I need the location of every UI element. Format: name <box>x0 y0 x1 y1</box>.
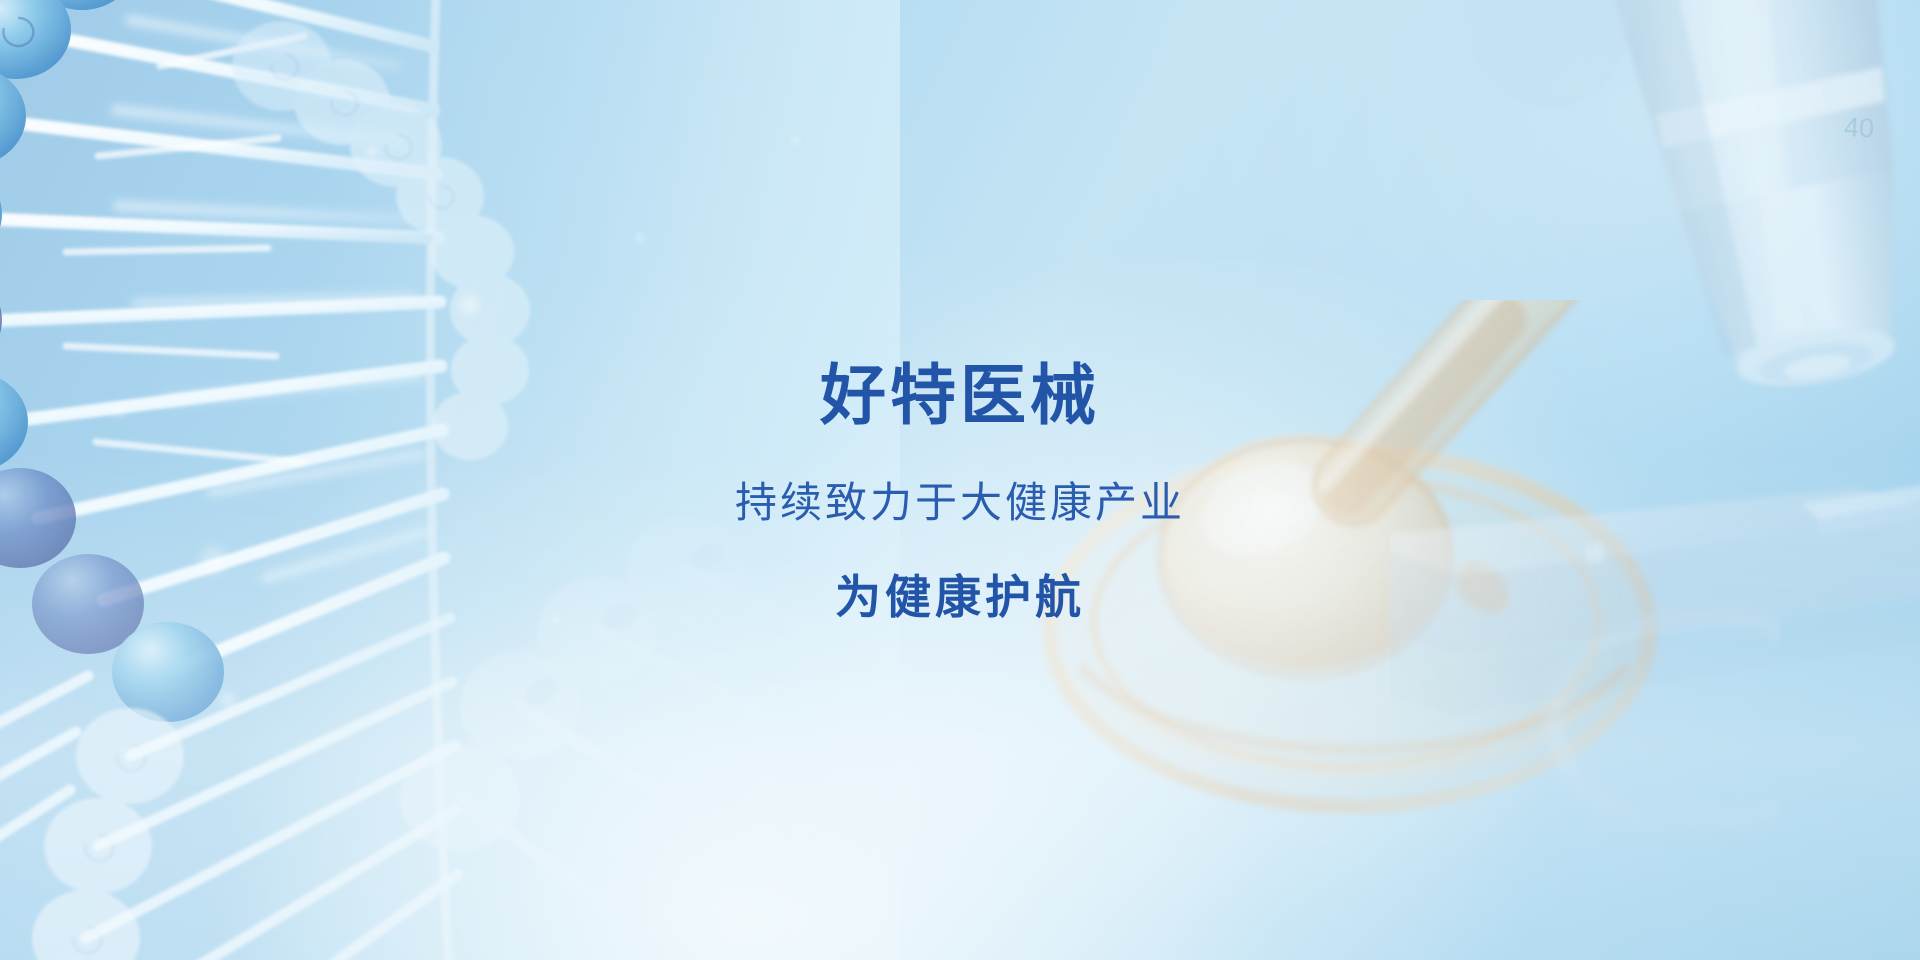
hero-subtitle: 持续致力于大健康产业 <box>735 482 1185 524</box>
hero-text-block: 好特医械 持续致力于大健康产业 为健康护航 <box>0 0 1920 960</box>
hero-tagline: 为健康护航 <box>835 574 1085 620</box>
hero-banner: 40 <box>0 0 1920 960</box>
page-title: 好特医械 <box>820 362 1100 428</box>
